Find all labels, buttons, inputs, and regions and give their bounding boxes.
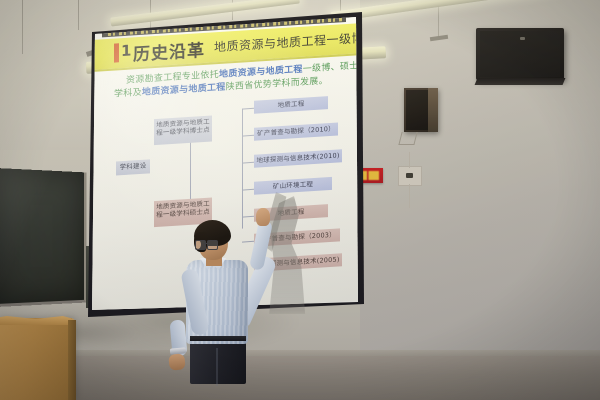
speaker-badge [520, 37, 525, 40]
diagram-box-right: 矿产普查与勘探（2010） [254, 123, 338, 141]
body-line-2-part-c: 陕西省优势学科而发展。 [226, 76, 328, 92]
classroom-presentation-photo: 1 历史沿革 地质资源与地质工程一级博、硕士点 资源勘查工程专业依托地质资源与地… [0, 0, 600, 400]
light-suspension-rod [22, 0, 23, 54]
presenter-trousers [190, 338, 246, 384]
conduit-line [409, 152, 410, 168]
presenter [170, 196, 300, 382]
speaker-bottom-edge [475, 78, 566, 85]
blackboard [0, 168, 87, 307]
body-line-1-part-c: 一级博、硕士点 [303, 61, 358, 75]
wall-speaker-large-icon [476, 28, 564, 80]
diagram-connector [242, 189, 254, 191]
blackboard-glare [0, 168, 84, 304]
diagram-box-right: 地质工程 [254, 96, 328, 114]
conduit-line [409, 184, 410, 208]
speaker-mount-bracket [398, 132, 417, 145]
eyeglass-lens [195, 240, 206, 250]
slide-title-marker [114, 43, 119, 62]
diagram-box-right: 矿山环境工程 [254, 177, 332, 195]
body-line-2-highlight: 地质资源与地质工程 [142, 83, 226, 98]
light-suspension-rod [78, 0, 79, 30]
diagram-box-left: 地质资源与地质工程一级学科博士点 [154, 115, 212, 145]
presenter-leg-seam [216, 348, 218, 386]
floor [0, 356, 600, 400]
body-line-2-part-a: 学科及 [114, 88, 142, 100]
diagram-connector [242, 135, 254, 137]
eyeglass-lens [207, 240, 218, 250]
eyeglasses-icon [195, 240, 217, 248]
presenter-hand-pointing [256, 208, 270, 226]
slide-title-number: 1 [121, 42, 131, 61]
socket-port [406, 173, 413, 178]
presenter-waistline [190, 336, 246, 341]
eyeglass-bridge [204, 243, 207, 244]
page-title: 历史沿革 [133, 36, 205, 66]
wooden-podium [0, 318, 72, 400]
diagram-box-left: 学科建设 [116, 159, 150, 175]
podium-side-edge [68, 320, 76, 400]
presenter-hand-lowered [168, 353, 186, 371]
speaker-side-panel [428, 88, 438, 132]
wall-speaker-small-icon [404, 88, 438, 132]
wall-socket [398, 166, 422, 186]
speaker-grille [406, 90, 428, 130]
diagram-connector [242, 162, 254, 164]
diagram-box-right: 地球探测与信息技术(2010) [254, 149, 342, 168]
diagram-connector [242, 108, 254, 110]
